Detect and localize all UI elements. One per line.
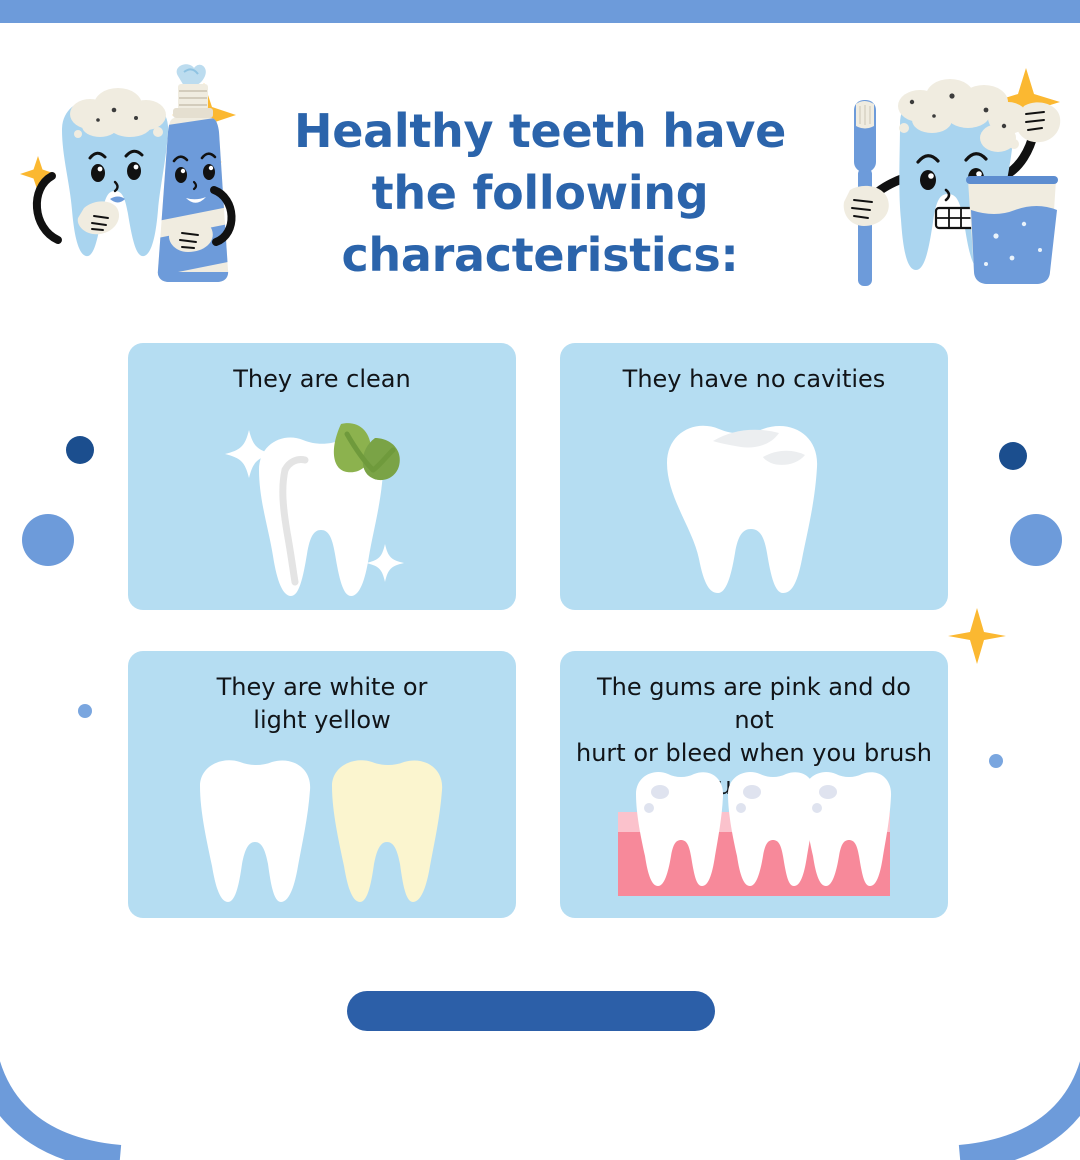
navy-dot-left (66, 436, 94, 464)
card-no-cavities-art (560, 343, 948, 610)
blue-dot-left (22, 514, 74, 566)
tooth-left-arm-icon (37, 176, 58, 240)
white-tooth-shape (200, 760, 310, 902)
left-fist-icon (844, 186, 889, 226)
title-line-3: characteristics: (250, 224, 830, 286)
tooth-with-toothbrush-illustration (808, 58, 1070, 293)
sparkle-right-mid-icon (948, 606, 1006, 670)
card-clean-art (128, 343, 516, 610)
title-line-1: Healthy teeth have (250, 100, 830, 162)
yellow-tooth-shape (332, 760, 442, 902)
page-title: Healthy teeth have the following charact… (250, 100, 830, 286)
navy-dot-right (999, 442, 1027, 470)
infographic-canvas: Healthy teeth have the following charact… (0, 0, 1080, 1080)
top-accent-bar (0, 0, 1080, 23)
characteristics-grid: They are clean (128, 343, 948, 918)
bottom-right-arc (890, 1000, 1080, 1160)
bottom-left-arc (0, 1000, 190, 1160)
small-dot-left (78, 704, 92, 718)
paste-swirl-icon (177, 64, 206, 86)
card-white-or-light-yellow-art (128, 651, 516, 918)
bottom-accent-bar (347, 991, 715, 1031)
toothpaste-tube-character (148, 64, 248, 293)
card-no-cavities[interactable]: They have no cavities (560, 343, 948, 610)
title-line-2: the following (250, 162, 830, 224)
card-healthy-gums[interactable]: The gums are pink and do not hurt or ble… (560, 651, 948, 918)
tooth-and-toothpaste-illustration (18, 58, 268, 293)
glass-of-water-icon (966, 176, 1058, 284)
tooth-shape (667, 425, 817, 592)
card-healthy-gums-art (560, 651, 948, 918)
card-white-or-light-yellow[interactable]: They are white or light yellow (128, 651, 516, 918)
small-dot-right (989, 754, 1003, 768)
card-clean[interactable]: They are clean (128, 343, 516, 610)
blue-dot-right (1010, 514, 1062, 566)
